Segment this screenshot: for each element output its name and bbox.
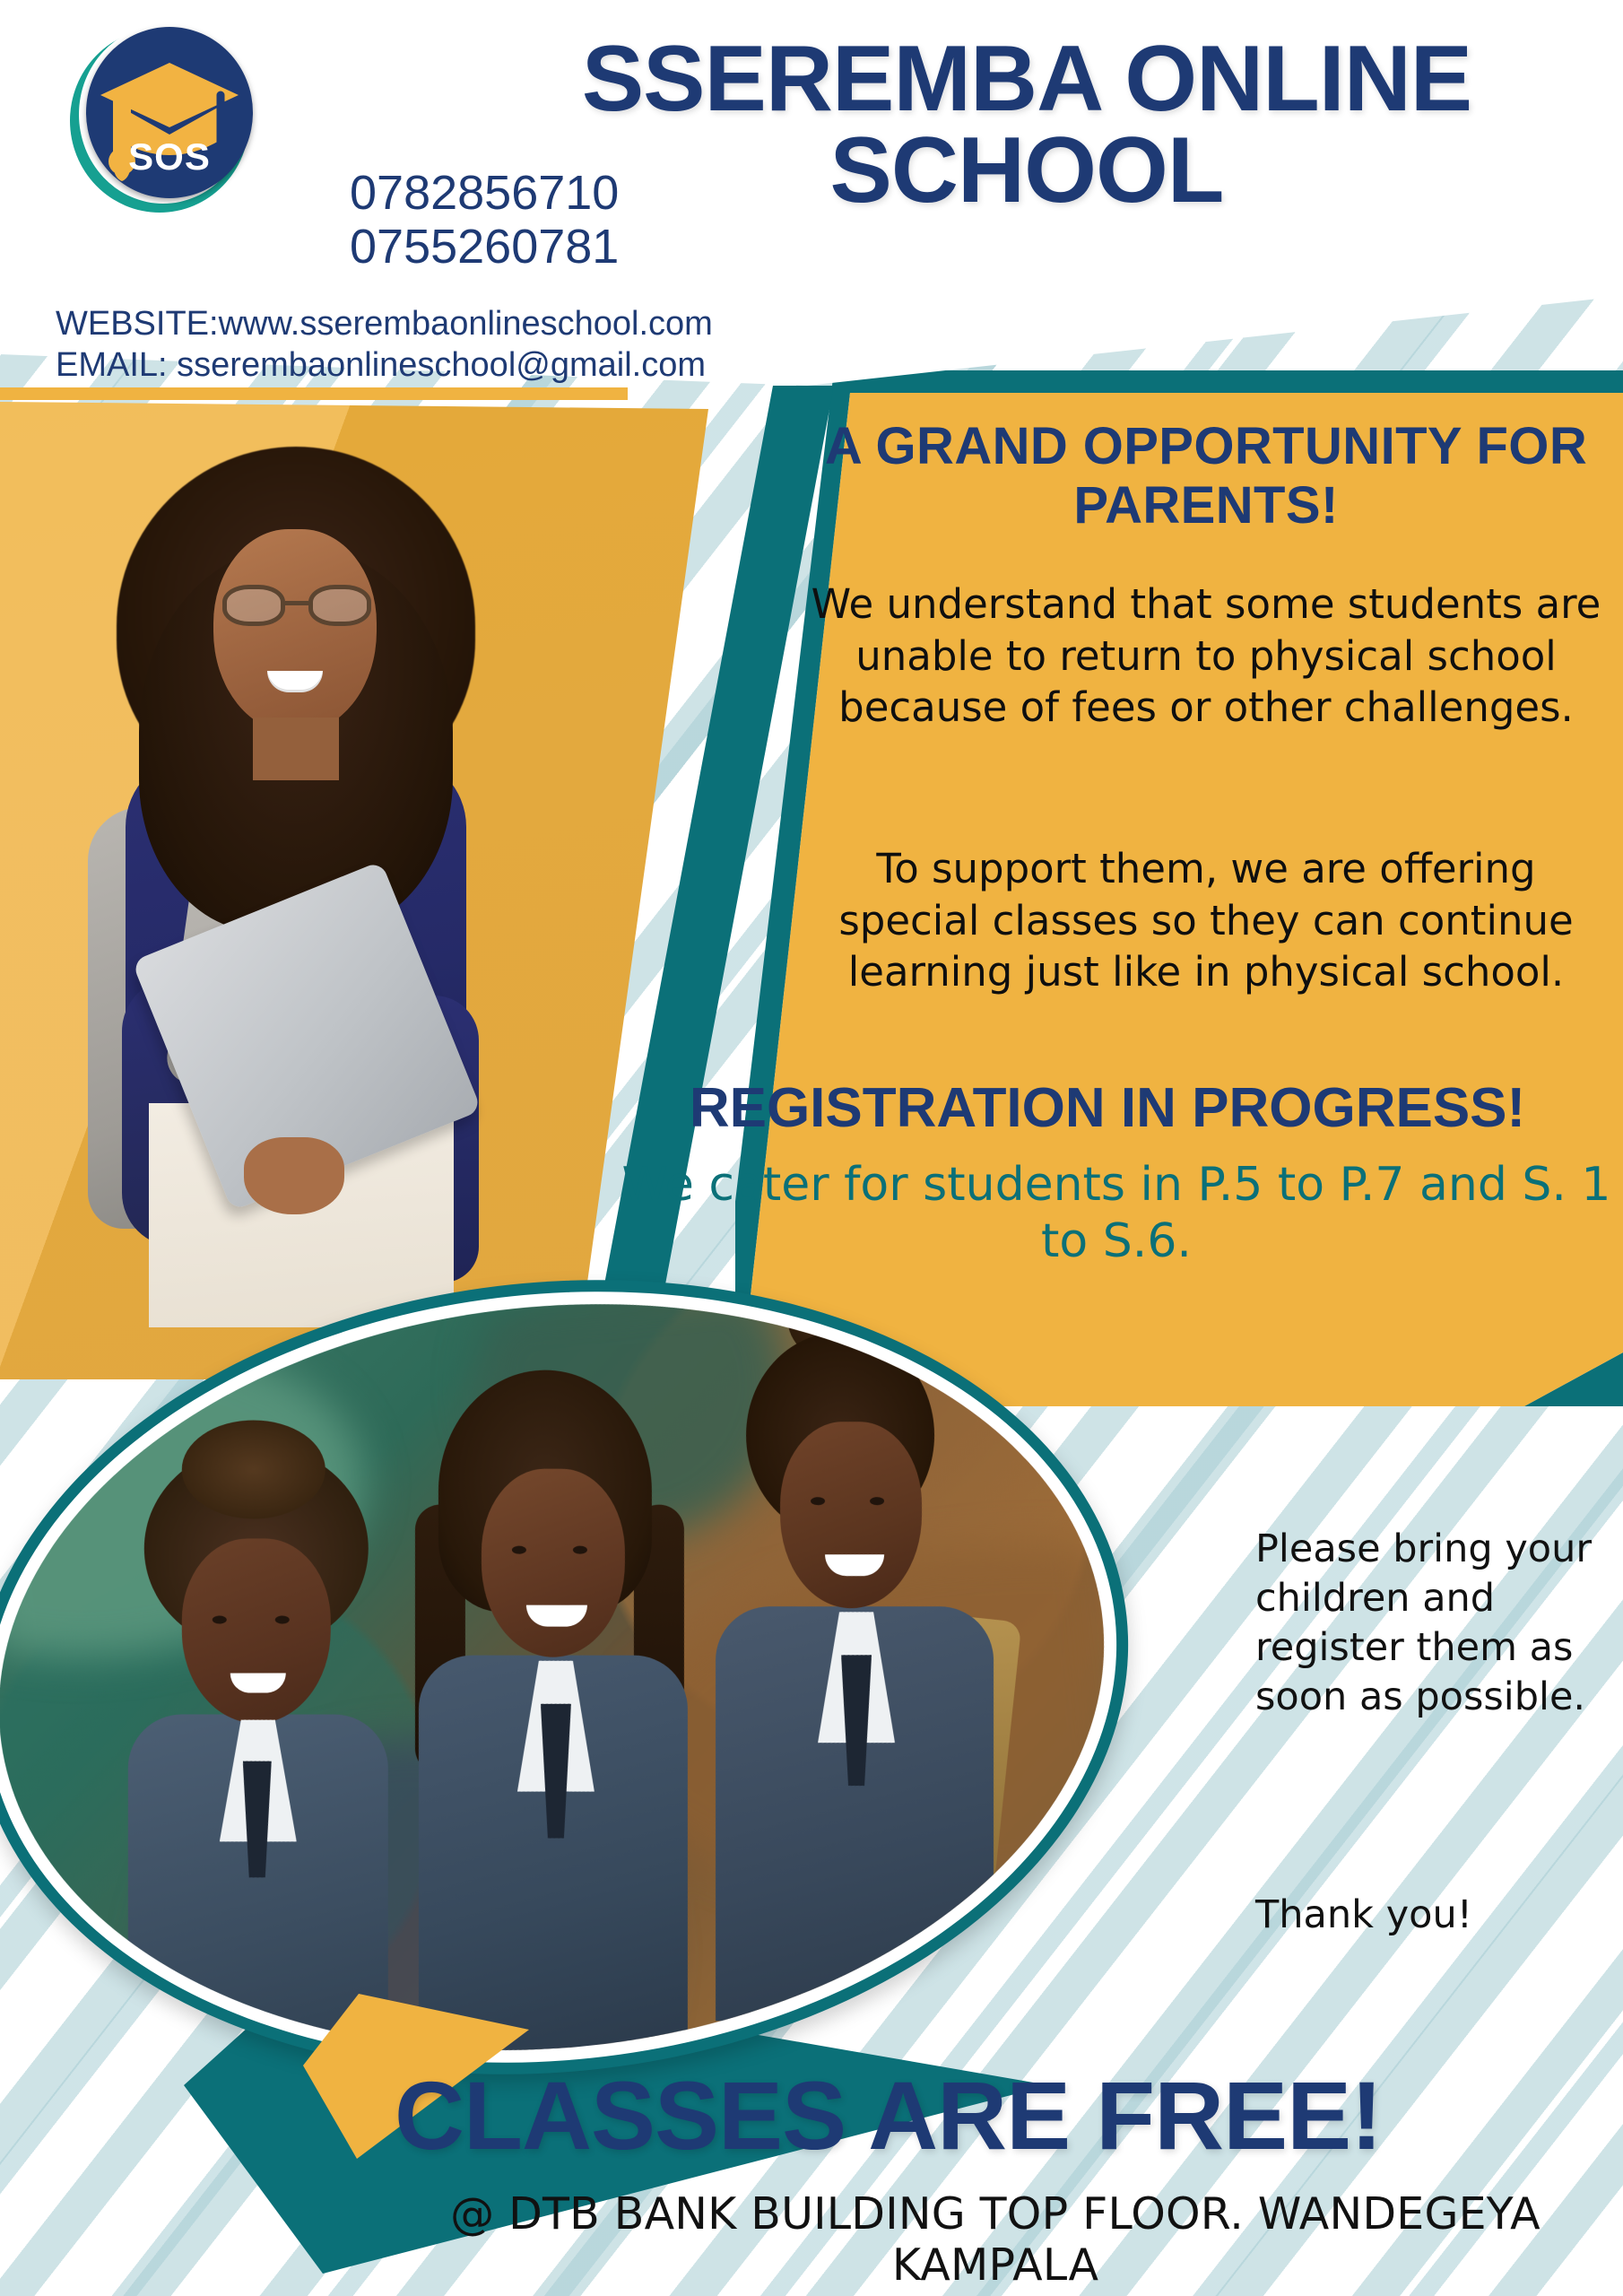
- thank-you-note: Thank you!: [1255, 1892, 1614, 1937]
- student-figure: [395, 1370, 700, 2052]
- body-paragraph-2: To support them, we are offering special…: [807, 843, 1605, 998]
- main-headline: A GRAND OPPORTUNITY FOR PARENTS!: [789, 417, 1623, 535]
- header-yellow-rule: [0, 387, 628, 400]
- student-with-laptop-photo: [9, 422, 565, 1327]
- footer-slogan: CLASSES ARE FREE!: [395, 2059, 1596, 2171]
- school-logo: SOS: [70, 29, 249, 213]
- email-line: EMAIL: sserembaonlineschool@gmail.com: [56, 344, 713, 386]
- phone-number-1: 0782856710: [350, 166, 619, 220]
- grades-line: We cater for students in P.5 to P.7 and …: [610, 1157, 1623, 1271]
- footer-address: @ DTB BANK BUILDING TOP FLOOR. WANDEGEYA…: [386, 2188, 1605, 2291]
- bring-children-note: Please bring your children and register …: [1255, 1525, 1614, 1722]
- phone-number-2: 0755260781: [350, 220, 619, 274]
- three-students-in-uniform-photo: [0, 1283, 1130, 2072]
- registration-heading: REGISTRATION IN PROGRESS!: [592, 1076, 1623, 1140]
- logo-text: SOS: [86, 135, 253, 178]
- body-paragraph-1: We understand that some students are una…: [807, 578, 1605, 734]
- website-line: WEBSITE:www.sserembaonlineschool.com: [56, 303, 713, 344]
- student-figure: [680, 1321, 1002, 2021]
- student-figure: [112, 1445, 408, 2073]
- flyer-canvas: SOS SSEREMBA ONLINE SCHOOL 0782856710 07…: [0, 0, 1623, 2296]
- page-title: SSEREMBA ONLINE SCHOOL: [466, 34, 1587, 217]
- contact-block: WEBSITE:www.sserembaonlineschool.com EMA…: [56, 303, 713, 387]
- phone-numbers: 0782856710 0755260781: [350, 166, 619, 274]
